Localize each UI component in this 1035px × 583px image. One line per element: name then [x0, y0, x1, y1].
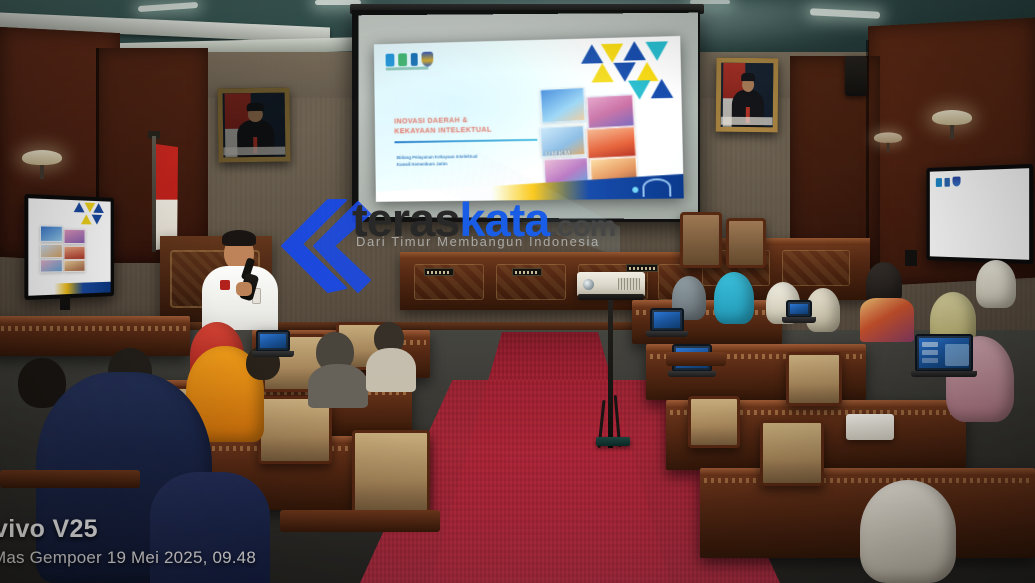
- kemenkum-shield-logo: [421, 52, 433, 67]
- monitor-footer-band: [28, 282, 110, 296]
- slide-footer-dot: [632, 187, 638, 193]
- photo-canvas: INOVASI DAERAH & KEKAYAAN INTELEKTUAL Bi…: [0, 0, 1035, 583]
- official-portrait-left: [217, 88, 290, 163]
- teraskata-tagline: Dari Timur Membangun Indonesia: [356, 234, 600, 249]
- laptop-base: [646, 331, 688, 337]
- slide-divider: [395, 139, 538, 143]
- stage-chair: [680, 212, 722, 268]
- audience-chair: [688, 396, 740, 448]
- wall-lamp: [874, 132, 902, 152]
- decor-triangle: [581, 44, 604, 64]
- decor-triangle: [623, 41, 646, 61]
- laptop-lid: [650, 308, 684, 332]
- side-monitor-right: [926, 164, 1033, 264]
- laptop-screen-row: [922, 358, 938, 363]
- collage-photo: [40, 244, 63, 258]
- audience-laptop[interactable]: [256, 330, 290, 352]
- desk-beading: [0, 326, 186, 331]
- projector-stand-pole: [608, 300, 613, 448]
- laptop-lid: [256, 330, 290, 352]
- audience-laptop[interactable]: [915, 334, 973, 372]
- camera-device-stamp: vivo V25: [0, 515, 98, 544]
- decor-triangle: [601, 44, 624, 64]
- slide-logo-caption: [386, 67, 429, 71]
- collage-photo: [40, 259, 63, 273]
- lamp-stem: [40, 165, 44, 179]
- batik-outfit: [860, 298, 914, 342]
- camera-credit-stamp: Mas Gempoer 19 Mei 2025, 09.48: [0, 548, 256, 568]
- presenter-hair: [222, 230, 256, 246]
- laptop-screen: [790, 304, 808, 314]
- collage-photo: [40, 225, 63, 242]
- djki-logo: [936, 178, 942, 187]
- audience-desk: [0, 316, 190, 356]
- laptop-screen-row: [922, 342, 938, 347]
- audience-shoulders: [308, 364, 368, 408]
- monitor-stand: [905, 250, 917, 266]
- audience-chair: [760, 420, 824, 486]
- lamp-stem: [950, 125, 954, 139]
- laptop-screen: [654, 312, 680, 328]
- lamp-shade: [22, 150, 62, 165]
- flag-pole: [152, 136, 156, 252]
- monitor-logo-group: [936, 177, 961, 187]
- decor-triangle: [646, 41, 669, 61]
- djki-logo-k: [411, 53, 418, 66]
- desk-box: [846, 414, 894, 440]
- indonesian-flag: [156, 144, 178, 250]
- monitor-collage: [40, 225, 86, 272]
- wall-lamp: [932, 110, 972, 139]
- hijab: [860, 480, 956, 583]
- side-monitor-left: [24, 194, 114, 300]
- wall-speaker: [845, 56, 867, 96]
- presenter: [196, 228, 282, 338]
- desk-nameplate: [626, 264, 658, 272]
- projector-vent: [618, 278, 640, 290]
- desk-lip: [700, 468, 1035, 476]
- collage-photo: [540, 87, 586, 123]
- portrait-image: [223, 93, 286, 158]
- djki-logo-k: [945, 177, 950, 186]
- audience-chair: [786, 352, 842, 406]
- decor-triangle: [650, 79, 673, 99]
- laptop-screen-panel: [945, 344, 969, 366]
- collage-umkm-label: UMKM: [545, 150, 571, 158]
- presenter-badge: [220, 280, 230, 290]
- power-strip: [596, 437, 630, 446]
- portrait-caption-strip: [223, 147, 285, 156]
- decor-triangle: [93, 203, 103, 213]
- projector-lens: [583, 279, 594, 290]
- hijab: [714, 272, 754, 324]
- audience-chair: [352, 430, 430, 516]
- laptop-screen: [260, 334, 286, 348]
- presentation-slide: INOVASI DAERAH & KEKAYAAN INTELEKTUAL Bi…: [374, 36, 684, 202]
- laptop-lid: [786, 300, 812, 318]
- slide-logo-group: [386, 52, 434, 68]
- portrait-image: [721, 63, 774, 128]
- wall-lamp: [22, 150, 62, 179]
- lamp-stem: [887, 143, 890, 153]
- stage-chair: [726, 218, 766, 268]
- audience-laptop[interactable]: [650, 308, 684, 332]
- laptop-screen-row: [922, 350, 938, 355]
- audience-shoulders: [366, 348, 416, 392]
- ceiling-light: [138, 2, 198, 12]
- portrait-caption-strip: [721, 117, 773, 126]
- decor-triangle: [81, 214, 92, 224]
- collage-photo: [64, 260, 86, 272]
- desk-lip: [632, 300, 782, 308]
- djki-logo-mark: [398, 53, 407, 66]
- slide-subtitle-line2: Kanwil Kemenkum Jatim: [397, 159, 545, 168]
- bench-top: [400, 252, 710, 259]
- audience-laptop[interactable]: [786, 300, 812, 318]
- official-portrait-right: [716, 58, 779, 133]
- portrait-peci: [741, 73, 756, 81]
- monitor-screen: [28, 198, 110, 296]
- slide-title-line2: KEKAYAAN INTELEKTUAL: [394, 124, 552, 137]
- laptop-lid: [915, 334, 973, 372]
- monitor-stand: [60, 296, 70, 310]
- collage-photo: [64, 246, 86, 260]
- decor-triangle: [92, 215, 102, 225]
- desk-nameplate: [512, 268, 542, 276]
- monitor-screen: [930, 168, 1029, 260]
- decor-triangle: [591, 63, 614, 83]
- decor-triangle: [74, 202, 85, 212]
- desk-beading: [704, 478, 1031, 483]
- desk-nameplate: [424, 268, 454, 276]
- chair-armrest: [0, 470, 140, 488]
- bench-carving: [782, 250, 850, 286]
- collage-photo: [586, 94, 634, 129]
- djki-logo: [386, 54, 395, 67]
- collage-photo: [64, 229, 86, 244]
- chair-armrest: [666, 352, 726, 366]
- laptop-base: [782, 317, 816, 323]
- laptop-base: [252, 351, 294, 357]
- slide-subtitle: Bidang Pelayanan Kekayaan Intelektual Ka…: [397, 152, 545, 168]
- collage-photo: [586, 126, 636, 159]
- slide-title: INOVASI DAERAH & KEKAYAAN INTELEKTUAL: [394, 113, 552, 137]
- kemenkum-shield-logo: [953, 177, 961, 187]
- desk-lip: [0, 316, 190, 324]
- laptop-screen: [919, 338, 969, 368]
- presenter-hand: [236, 282, 252, 296]
- lamp-shade: [932, 110, 972, 125]
- laptop-base: [668, 371, 716, 377]
- slide-footer-emblem: [642, 178, 671, 197]
- hijab: [976, 260, 1016, 308]
- laptop-base: [911, 371, 977, 377]
- chair-armrest: [280, 510, 440, 532]
- portrait-peci: [246, 103, 263, 111]
- lamp-shade: [874, 132, 902, 143]
- slide-photo-collage: UMKM: [538, 80, 641, 190]
